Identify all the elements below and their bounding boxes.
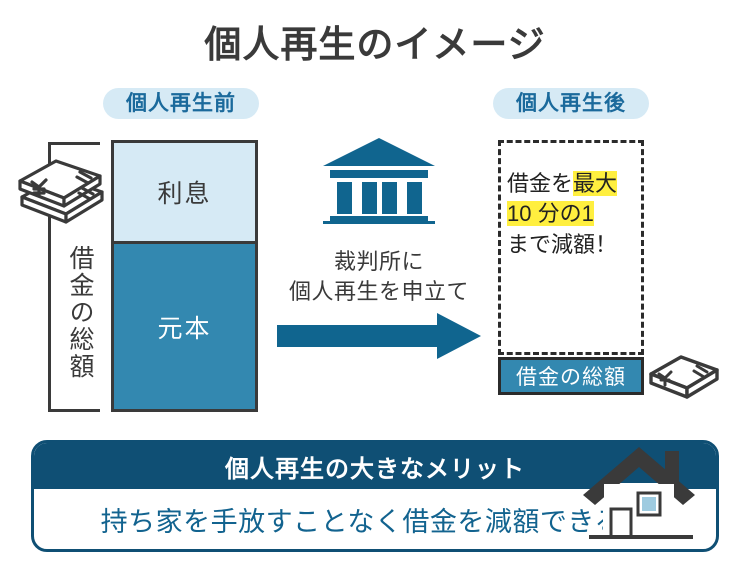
bar-segment-interest: 利息 xyxy=(114,143,255,244)
total-debt-label: 借金の総額 xyxy=(58,245,92,380)
court-caption-line-1: 裁判所に xyxy=(280,247,478,277)
label-after-rehabilitation: 個人再生後 xyxy=(493,88,649,119)
bar-segment-principal: 元本 xyxy=(114,244,255,409)
money-stack-icon-small xyxy=(648,345,720,407)
reduction-line-2-highlight: 10 分の1 xyxy=(507,201,594,226)
bar-segment-principal-label: 元本 xyxy=(157,309,211,345)
label-before-rehabilitation: 個人再生前 xyxy=(103,88,259,119)
right-arrow-icon xyxy=(277,313,481,359)
remaining-total-debt-box: 借金の総額 xyxy=(498,357,644,395)
court-filing-caption: 裁判所に 個人再生を申立て xyxy=(280,247,478,306)
reduction-callout-text: 借金を最大 10 分の1 まで減額！ xyxy=(507,169,641,260)
debt-composition-bar: 利息 元本 xyxy=(111,140,258,412)
money-stack-icon xyxy=(18,150,106,236)
courthouse-icon xyxy=(320,136,438,224)
reduction-line-3: まで減額！ xyxy=(507,230,641,260)
benefit-banner-heading: 個人再生の大きなメリット xyxy=(225,449,525,484)
benefit-banner-text: 持ち家を手放すことなく借金を減額できる！ xyxy=(101,500,650,539)
reduction-line-2: 10 分の1 xyxy=(507,199,641,229)
court-caption-line-2: 個人再生を申立て xyxy=(280,277,478,307)
house-icon xyxy=(583,443,701,547)
bar-segment-interest-label: 利息 xyxy=(157,174,211,210)
remaining-total-debt-label: 借金の総額 xyxy=(516,361,626,391)
reduction-line-1-highlight: 最大 xyxy=(573,171,617,196)
reduction-callout-box: 借金を最大 10 分の1 まで減額！ xyxy=(498,140,644,355)
page-title: 個人再生のイメージ xyxy=(0,14,750,68)
reduction-line-1: 借金を最大 xyxy=(507,169,641,199)
reduction-line-1-plain: 借金を xyxy=(507,171,573,196)
